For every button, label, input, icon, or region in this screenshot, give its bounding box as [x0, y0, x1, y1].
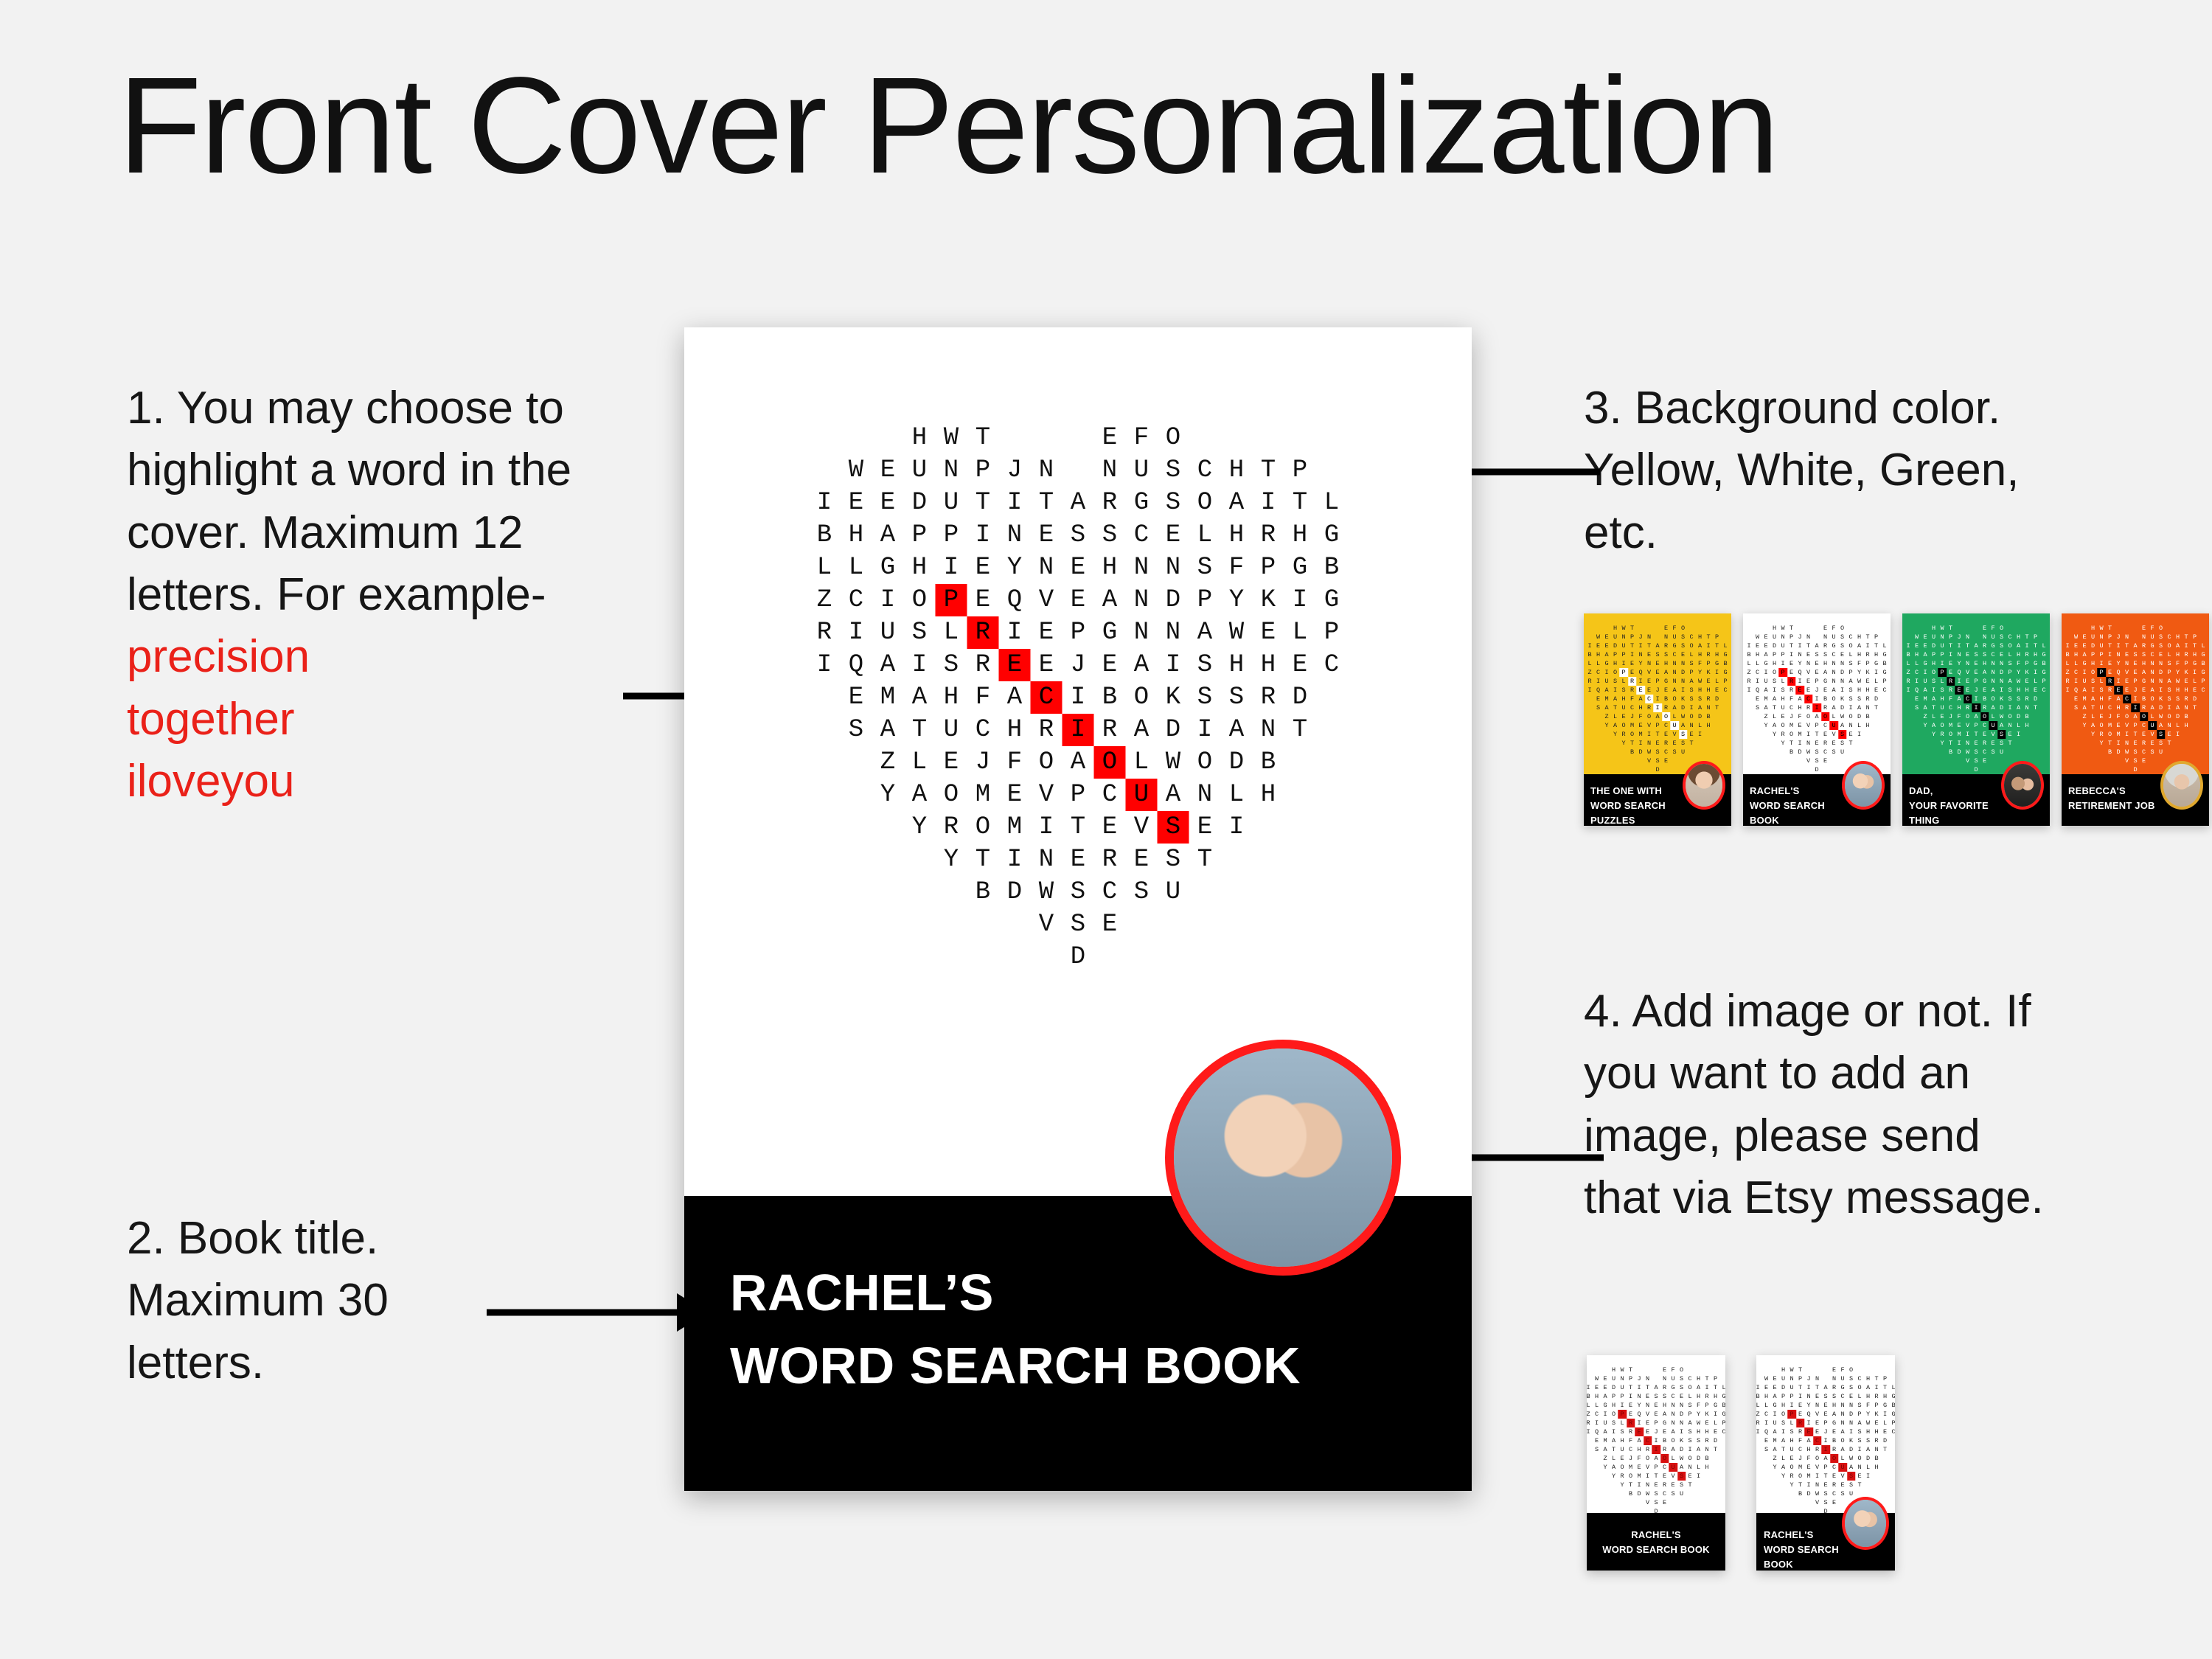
grid-cell: S — [1189, 649, 1221, 681]
grid-spacer — [1762, 1454, 1771, 1463]
cover-footer-bar: RACHEL’S WORD SEARCH BOOK — [684, 1196, 1472, 1491]
grid-cell: O — [2089, 668, 2098, 677]
grid-cell: M — [1795, 730, 1804, 739]
grid-cell: R — [1660, 1383, 1669, 1392]
grid-cell-highlighted: O — [2140, 712, 2149, 721]
grid-cell: E — [1704, 677, 1713, 686]
grid-cell: E — [1653, 668, 1662, 677]
grid-spacer — [1770, 739, 1779, 748]
grid-row: EMAHFACIBOKSSRD — [1745, 695, 1889, 703]
grid-cell: F — [1694, 1401, 1703, 1410]
grid-cell: O — [1778, 721, 1787, 730]
grid-spacer — [1787, 757, 1796, 765]
grid-cell-highlighted: O — [1662, 712, 1671, 721]
grid-cell: B — [1863, 712, 1872, 721]
grid-cell: L — [2148, 712, 2157, 721]
grid-cell: I — [1686, 1445, 1694, 1454]
grid-cell: T — [1813, 1383, 1822, 1392]
grid-spacer — [1594, 730, 1603, 739]
grid-cell: B — [1587, 1392, 1593, 1401]
grid-cell: Y — [1778, 739, 1787, 748]
grid-cell-highlighted: P — [2097, 668, 2106, 677]
thumb-photo-avatar[interactable] — [2160, 761, 2203, 810]
grid-spacer — [1593, 1481, 1601, 1489]
grid-cell: D — [1838, 703, 1847, 712]
grid-cell: F — [1627, 1436, 1635, 1445]
grid-cell: I — [1585, 686, 1594, 695]
grid-row: ZLEJFOAOLWODB — [1904, 712, 2048, 721]
grid-cell: U — [1778, 703, 1787, 712]
grid-cell: C — [1628, 703, 1637, 712]
grid-cell: N — [1703, 1445, 1711, 1454]
image-option-without-photo[interactable]: HWT EFOWEUNPJN NUSCHTPIEEDUTITARGSOAITLB… — [1587, 1355, 1725, 1571]
grid-cell: G — [1284, 552, 1316, 584]
grid-cell: B — [2199, 659, 2208, 668]
grid-cell: O — [1679, 624, 1688, 633]
grid-cell: C — [1126, 519, 1158, 552]
grid-cell: N — [1031, 454, 1062, 487]
grid-cell: E — [1838, 650, 1847, 659]
grid-cell: U — [1938, 703, 1947, 712]
grid-row: YTINEREST — [1756, 1481, 1895, 1489]
grid-cell: W — [1677, 1454, 1686, 1463]
thumb-word-search-grid: HWT EFOWEUNPJN NUSCHTPIEEDUTITARGSOAITLB… — [1756, 1366, 1895, 1513]
grid-cell: L — [1284, 616, 1316, 649]
grid-spacer — [2123, 765, 2132, 774]
grid-cell: J — [1787, 712, 1796, 721]
grid-spacer — [2063, 730, 2072, 739]
grid-cell: Y — [2080, 721, 2089, 730]
book-cover-preview[interactable]: HWT EFOWEUNPJN NUSCHTPIEEDUTITARGSOAITLB… — [684, 327, 1472, 1491]
grid-cell: Y — [1696, 668, 1705, 677]
grid-cell: L — [1864, 1463, 1873, 1472]
grid-cell: E — [1847, 1392, 1856, 1401]
grid-cell: G — [1989, 641, 1997, 650]
grid-cell: N — [1778, 633, 1787, 641]
grid-cell: N — [1997, 677, 2006, 686]
grid-cell: A — [1930, 695, 1938, 703]
grid-row: ZCIOPEQVEANDPYKIG — [1904, 668, 2048, 677]
grid-cell: T — [1628, 624, 1637, 633]
grid-cell: L — [1846, 650, 1855, 659]
color-swatch-white[interactable]: HWT EFOWEUNPJN NUSCHTPIEEDUTITARGSOAITLB… — [1743, 613, 1891, 826]
grid-cell: D — [1653, 765, 1662, 774]
grid-cell: G — [1601, 1401, 1610, 1410]
grid-cell: C — [1593, 1410, 1601, 1419]
grid-cell: A — [2131, 641, 2140, 650]
grid-cell: J — [1652, 1427, 1660, 1436]
grid-cell: I — [1872, 1383, 1881, 1392]
grid-spacer — [1756, 1436, 1762, 1445]
grid-cell-highlighted: I — [2131, 703, 2140, 712]
grid-spacer — [809, 454, 841, 487]
grid-cell: I — [1795, 641, 1804, 650]
grid-cell: A — [1670, 686, 1679, 695]
page-title: Front Cover Personalization — [118, 58, 1778, 195]
grid-cell: O — [2006, 641, 2014, 650]
grid-cell: O — [2165, 712, 2174, 721]
grid-cell: M — [999, 811, 1031, 844]
grid-cell: U — [1997, 748, 2006, 757]
grid-spacer — [1601, 1366, 1610, 1374]
grid-cell: E — [1821, 730, 1830, 739]
grid-cell: U — [1938, 641, 1947, 650]
grid-cell: D — [2191, 695, 2199, 703]
grid-cell: T — [1031, 487, 1062, 519]
grid-spacer — [2063, 624, 2072, 633]
grid-cell: I — [1636, 739, 1645, 748]
grid-row: RIUSLRIEPGNNAWELP — [1745, 677, 1889, 686]
grid-cell: R — [2106, 686, 2115, 695]
grid-row: IQAISREEJEAISHHEC — [1587, 1427, 1725, 1436]
grid-cell: H — [1221, 519, 1253, 552]
grid-cell: S — [1158, 844, 1189, 876]
grid-cell: L — [2006, 650, 2014, 659]
grid-cell: S — [1593, 1445, 1601, 1454]
grid-cell: A — [1761, 650, 1770, 659]
grid-row: YTINEREST — [1587, 1481, 1725, 1489]
grid-cell: S — [1846, 686, 1855, 695]
grid-cell: C — [1627, 1445, 1635, 1454]
grid-cell: A — [1696, 641, 1705, 650]
grid-cell: E — [1795, 721, 1804, 730]
grid-cell: A — [1660, 1410, 1669, 1419]
grid-cell: H — [1703, 1463, 1711, 1472]
color-swatch-orange[interactable]: HWT EFOWEUNPJN NUSCHTPIEEDUTITARGSOAITLB… — [2062, 613, 2209, 826]
grid-cell: N — [1669, 1401, 1677, 1410]
grid-cell: D — [1864, 1454, 1873, 1463]
grid-cell: L — [2072, 659, 2081, 668]
grid-cell: O — [1610, 1410, 1618, 1419]
grid-cell: R — [1660, 1445, 1669, 1454]
grid-cell: N — [1804, 633, 1813, 641]
cover-photo-avatar[interactable] — [1165, 1040, 1401, 1276]
grid-cell: U — [1838, 1374, 1847, 1383]
grid-cell: P — [1628, 633, 1637, 641]
grid-cell: A — [2080, 703, 2089, 712]
grid-spacer — [872, 876, 904, 908]
grid-cell: E — [2157, 650, 2166, 659]
grid-cell: J — [1821, 1427, 1830, 1436]
grid-cell: O — [1787, 1463, 1796, 1472]
thumb-title: DAD,YOUR FAVORITE THING — [1909, 784, 2008, 826]
grid-spacer — [1930, 765, 1938, 774]
grid-cell: T — [1947, 739, 1955, 748]
grid-spacer — [841, 908, 872, 941]
grid-cell: T — [1711, 1445, 1720, 1454]
grid-spacer — [1753, 624, 1762, 633]
grid-cell: N — [1158, 616, 1189, 649]
grid-cell: A — [872, 714, 904, 746]
grid-cell: F — [1635, 1454, 1644, 1463]
grid-cell: J — [2106, 712, 2115, 721]
grid-cell: E — [1062, 552, 1094, 584]
grid-cell: R — [2023, 650, 2031, 659]
grid-cell-highlighted: U — [2148, 721, 2157, 730]
grid-cell: F — [1636, 712, 1645, 721]
grid-spacer — [1594, 765, 1603, 774]
grid-cell: H — [1881, 1392, 1890, 1401]
grid-cell: T — [1687, 739, 1696, 748]
grid-cell — [2131, 633, 2140, 641]
thumb-photo-avatar[interactable] — [1683, 761, 1725, 810]
grid-cell: V — [1989, 730, 1997, 739]
grid-cell: S — [1847, 1383, 1856, 1392]
grid-cell: Y — [2089, 730, 2098, 739]
grid-spacer — [841, 422, 872, 454]
thumb-title: RACHEL'SWORD SEARCH BOOK — [1764, 1528, 1849, 1571]
grid-cell: V — [1645, 668, 1654, 677]
grid-cell: A — [872, 519, 904, 552]
grid-row: HWT EFO — [809, 422, 1348, 454]
grid-row: BDWSCSU — [809, 876, 1348, 908]
grid-cell: P — [1972, 677, 1980, 686]
grid-row: EMAHFACIBOKSSRD — [1904, 695, 2048, 703]
grid-cell: G — [1126, 487, 1158, 519]
grid-cell: N — [1838, 677, 1847, 686]
grid-row: ZCIOPEQVEANDPYKIG — [1585, 668, 1730, 677]
image-option-with-photo[interactable]: HWT EFOWEUNPJN NUSCHTPIEEDUTITARGSOAITLB… — [1756, 1355, 1895, 1571]
thumb-photo-avatar[interactable] — [1842, 761, 1885, 810]
grid-spacer — [841, 941, 872, 973]
grid-cell: R — [1703, 1392, 1711, 1401]
grid-cell: A — [1652, 1383, 1660, 1392]
grid-cell: E — [2165, 730, 2174, 739]
grid-cell: E — [1652, 1481, 1660, 1489]
grid-row: YTINEREST — [809, 844, 1348, 876]
grid-cell: I — [872, 584, 904, 616]
grid-cell: I — [1653, 695, 1662, 703]
grid-spacer — [1770, 1507, 1779, 1513]
grid-cell: P — [1812, 677, 1821, 686]
grid-spacer — [1753, 739, 1762, 748]
grid-cell: U — [936, 487, 967, 519]
grid-cell: A — [1677, 1463, 1686, 1472]
grid-cell: A — [1653, 712, 1662, 721]
grid-spacer — [2089, 748, 2098, 757]
thumb-photo-avatar[interactable] — [1842, 1497, 1889, 1550]
grid-cell: F — [1796, 1436, 1805, 1445]
grid-cell: T — [1652, 1472, 1660, 1481]
grid-cell: W — [2072, 633, 2081, 641]
grid-cell: W — [1645, 748, 1654, 757]
grid-cell: N — [1821, 633, 1830, 641]
grid-cell: I — [2106, 650, 2115, 659]
grid-cell: U — [1989, 633, 1997, 641]
grid-cell: G — [1316, 519, 1348, 552]
grid-cell: D — [1855, 712, 1864, 721]
grid-row: YROMITEVSEI — [809, 811, 1348, 844]
grid-cell: W — [2157, 712, 2166, 721]
instruction-2: 2. Book title. Maximum 30 letters. — [127, 1208, 510, 1394]
grid-cell: C — [2006, 633, 2014, 641]
grid-cell: I — [1913, 677, 1921, 686]
grid-spacer — [1585, 765, 1594, 774]
grid-cell-highlighted: S — [1847, 1472, 1856, 1481]
grid-cell: H — [2114, 703, 2123, 712]
grid-spacer — [1601, 1507, 1610, 1513]
grid-cell: D — [1610, 1383, 1618, 1392]
grid-spacer — [2063, 695, 2072, 703]
color-swatch-green[interactable]: HWT EFOWEUNPJN NUSCHTPIEEDUTITARGSOAITLB… — [1902, 613, 2050, 826]
grid-cell: N — [1804, 739, 1813, 748]
grid-spacer — [1770, 1489, 1779, 1498]
grid-cell: I — [999, 487, 1031, 519]
grid-row: ZCIOPEQVEANDPYKIG — [2063, 668, 2208, 677]
grid-spacer — [1611, 748, 1620, 757]
grid-cell: L — [1618, 1419, 1627, 1427]
grid-cell: N — [2123, 633, 2132, 641]
grid-spacer — [1587, 1445, 1593, 1454]
grid-cell: H — [904, 552, 936, 584]
grid-spacer — [2063, 703, 2072, 712]
grid-row: VSE — [809, 908, 1348, 941]
grid-cell: W — [1847, 1454, 1856, 1463]
grid-cell: D — [1635, 1489, 1644, 1498]
grid-cell: I — [1585, 641, 1594, 650]
grid-cell: E — [1980, 686, 1989, 695]
grid-cell: O — [1687, 641, 1696, 650]
grid-cell: P — [2182, 659, 2191, 668]
grid-spacer — [1753, 721, 1762, 730]
grid-cell: E — [1980, 757, 1989, 765]
grid-cell: J — [1812, 686, 1821, 695]
grid-spacer — [904, 876, 936, 908]
grid-spacer — [1921, 757, 1930, 765]
cover-title-line-1: RACHEL’S — [730, 1256, 1301, 1329]
grid-cell: Y — [872, 779, 904, 811]
grid-cell: S — [2006, 695, 2014, 703]
grid-cell: U — [1602, 677, 1611, 686]
grid-row: BHAPPINESSCELHRHG — [2063, 650, 2208, 659]
grid-cell: M — [2080, 695, 2089, 703]
grid-row: EMAHFACIBOKSSRD — [2063, 695, 2208, 703]
grid-cell: A — [2174, 641, 2183, 650]
grid-spacer — [841, 811, 872, 844]
grid-spacer — [1779, 1498, 1788, 1507]
grid-cell: S — [1855, 1436, 1864, 1445]
grid-cell: U — [1669, 1374, 1677, 1383]
grid-cell: A — [1679, 721, 1688, 730]
grid-cell: D — [1972, 765, 1980, 774]
grid-spacer — [1779, 1489, 1788, 1498]
grid-cell: I — [1972, 695, 1980, 703]
grid-cell: E — [1635, 1463, 1644, 1472]
grid-cell: D — [1284, 681, 1316, 714]
grid-cell: I — [2063, 641, 2072, 650]
grid-cell: M — [967, 779, 999, 811]
grid-cell: O — [1779, 1410, 1788, 1419]
grid-spacer — [1585, 695, 1594, 703]
grid-cell: G — [1719, 1392, 1725, 1401]
grid-cell: B — [2106, 748, 2115, 757]
grid-spacer — [2080, 624, 2089, 633]
grid-cell: I — [1587, 1383, 1593, 1392]
grid-cell: E — [1753, 641, 1762, 650]
image-option-thumbnails: HWT EFOWEUNPJN NUSCHTPIEEDUTITARGSOAITLB… — [1587, 1355, 1895, 1571]
grid-cell: A — [1189, 616, 1221, 649]
grid-cell: H — [1795, 703, 1804, 712]
grid-cell: U — [1670, 633, 1679, 641]
thumb-word-search-grid: HWT EFOWEUNPJN NUSCHTPIEEDUTITARGSOAITLB… — [1745, 624, 1889, 774]
grid-spacer — [1618, 1507, 1627, 1513]
grid-row: D — [1587, 1507, 1725, 1513]
grid-cell: L — [1829, 712, 1838, 721]
grid-cell: H — [1872, 650, 1881, 659]
grid-spacer — [1587, 1481, 1593, 1489]
grid-cell — [1821, 1366, 1830, 1374]
grid-spacer — [1770, 1481, 1779, 1489]
grid-cell: S — [1652, 1498, 1660, 1507]
grid-cell: F — [1795, 712, 1804, 721]
grid-cell: F — [1670, 624, 1679, 633]
grid-cell: J — [999, 454, 1031, 487]
grid-cell: Q — [1795, 668, 1804, 677]
grid-cell: I — [1847, 1427, 1856, 1436]
grid-cell: U — [1930, 633, 1938, 641]
grid-cell: H — [1694, 1392, 1703, 1401]
grid-row: BHAPPINESSCELHRHG — [1587, 1392, 1725, 1401]
grid-spacer — [1778, 748, 1787, 757]
grid-cell: E — [1645, 677, 1654, 686]
grid-row: RIUSLRIEPGNNAWELP — [1585, 677, 1730, 686]
example-word-1: precision — [127, 626, 613, 688]
color-swatch-yellow[interactable]: HWT EFOWEUNPJN NUSCHTPIEEDUTITARGSOAITLB… — [1584, 613, 1731, 826]
grid-cell: H — [1855, 650, 1864, 659]
grid-cell: C — [1719, 1427, 1725, 1436]
thumb-photo-avatar[interactable] — [2001, 761, 2044, 810]
grid-cell: E — [1821, 1401, 1830, 1410]
grid-cell: H — [1821, 659, 1830, 668]
grid-cell: E — [2131, 739, 2140, 748]
grid-cell: P — [1812, 721, 1821, 730]
grid-cell: S — [1821, 1392, 1830, 1401]
grid-cell: S — [2165, 695, 2174, 703]
grid-cell: T — [1796, 1366, 1805, 1374]
grid-cell: R — [1662, 739, 1671, 748]
grid-spacer — [841, 844, 872, 876]
grid-row: LLGHIEYNEHNNSFPGB — [1904, 659, 2048, 668]
grid-cell: N — [1787, 1374, 1796, 1383]
grid-cell: R — [1980, 703, 1989, 712]
grid-cell: E — [1787, 659, 1796, 668]
grid-cell: S — [2131, 757, 2140, 765]
grid-cell: F — [1955, 712, 1964, 721]
grid-cell: Y — [1864, 1410, 1873, 1419]
grid-spacer — [904, 908, 936, 941]
grid-cell: I — [1694, 1472, 1703, 1481]
grid-cell: N — [1677, 1401, 1686, 1410]
grid-spacer — [936, 908, 967, 941]
grid-cell: B — [1796, 1489, 1805, 1498]
grid-cell: N — [2148, 659, 2157, 668]
grid-cell: D — [1872, 695, 1881, 703]
grid-cell: I — [1955, 739, 1964, 748]
grid-spacer — [2089, 765, 2098, 774]
grid-cell: U — [936, 714, 967, 746]
grid-cell: C — [1094, 876, 1126, 908]
grid-cell — [2114, 624, 2123, 633]
grid-cell: O — [1618, 1463, 1627, 1472]
grid-cell: V — [1669, 1472, 1677, 1481]
grid-cell: S — [1997, 633, 2006, 641]
grid-cell: A — [1694, 1383, 1703, 1392]
portrait-image — [2004, 764, 2041, 807]
grid-row: LLGHIEYNEHNNSFPGB — [809, 552, 1348, 584]
grid-cell: A — [1670, 703, 1679, 712]
grid-cell-highlighted: R — [1628, 677, 1637, 686]
grid-cell: E — [1677, 1392, 1686, 1401]
